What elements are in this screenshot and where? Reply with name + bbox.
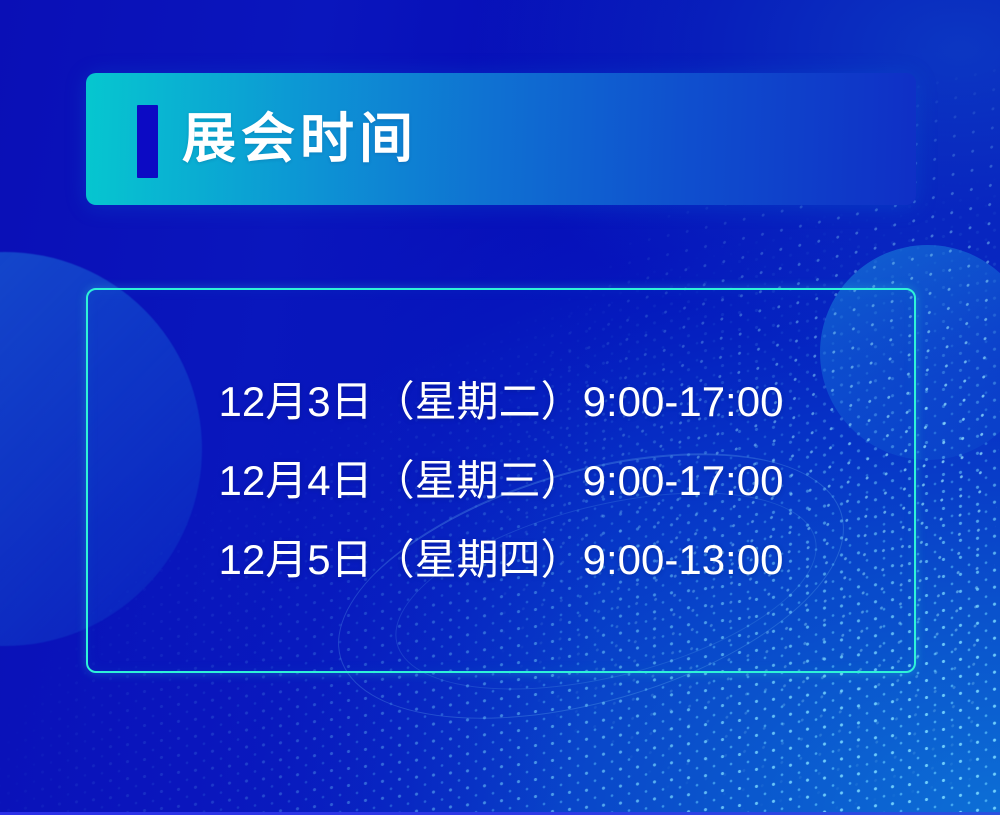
page-title: 展会时间: [182, 101, 418, 177]
schedule-list: 12月3日（星期二）9:00-17:00 12月4日（星期三）9:00-17:0…: [88, 290, 914, 671]
title-accent-bar: [137, 105, 158, 178]
schedule-row: 12月5日（星期四）9:00-13:00: [219, 520, 784, 599]
schedule-row: 12月4日（星期三）9:00-17:00: [219, 441, 784, 520]
section-title-banner: 展会时间: [86, 73, 916, 205]
schedule-row: 12月3日（星期二）9:00-17:00: [219, 362, 784, 441]
schedule-box: 12月3日（星期二）9:00-17:00 12月4日（星期三）9:00-17:0…: [86, 288, 916, 673]
poster-canvas: 展会时间 12月3日（星期二）9:00-17:00 12月4日（星期三）9:00…: [0, 0, 1000, 815]
